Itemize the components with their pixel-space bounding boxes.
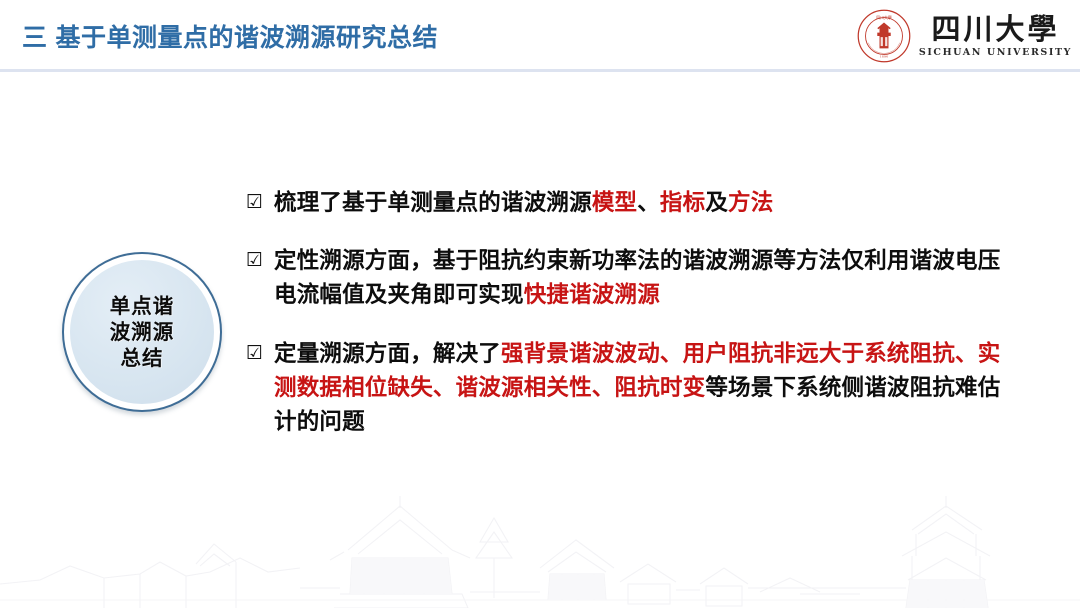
bullet-segment: 、	[637, 190, 660, 216]
sichuan-university-seal-icon: 四川大學 1896	[856, 8, 912, 64]
bullet-segment-highlight: 方法	[728, 190, 773, 216]
bullet-segment: 梳理了基于单测量点的谐波溯源	[274, 190, 592, 216]
university-wordmark: 四川大學 SICHUAN UNIVERSITY	[919, 15, 1072, 58]
bullet-segment-highlight: 快捷谐波溯源	[524, 282, 660, 308]
slide-root: 三基于单测量点的谐波溯源研究总结 四川大學 1896 四川大學 SICHUAN …	[0, 0, 1080, 608]
badge-label: 单点谐 波溯源 总结	[110, 293, 175, 372]
slide-header: 三基于单测量点的谐波溯源研究总结 四川大學 1896 四川大學 SICHUAN …	[0, 0, 1080, 71]
badge-line-2: 波溯源	[110, 319, 175, 345]
page-title: 三基于单测量点的谐波溯源研究总结	[22, 18, 438, 54]
university-name-cn: 四川大學	[931, 15, 1059, 44]
svg-text:1896: 1896	[880, 54, 889, 58]
bullet-text: 定量溯源方面，解决了强背景谐波波动、用户阻抗非远大于系统阻抗、实测数据相位缺失、…	[246, 337, 1006, 440]
bullet-segment-highlight: 模型	[592, 190, 637, 216]
badge-fill: 单点谐 波溯源 总结	[70, 260, 214, 404]
bullet-item: ☑ 定量溯源方面，解决了强背景谐波波动、用户阻抗非远大于系统阻抗、实测数据相位缺…	[246, 337, 1006, 440]
bullet-list: ☑ 梳理了基于单测量点的谐波溯源模型、指标及方法 ☑ 定性溯源方面，基于阻抗约束…	[246, 186, 1006, 439]
header-divider	[0, 69, 1080, 72]
badge-line-3: 总结	[110, 345, 175, 371]
checkbox-checked-icon: ☑	[246, 188, 263, 217]
bullet-segment: 及	[705, 190, 728, 216]
section-title: 基于单测量点的谐波溯源研究总结	[56, 23, 439, 52]
university-logo: 四川大學 1896 四川大學 SICHUAN UNIVERSITY	[856, 6, 1072, 66]
badge-line-1: 单点谐	[110, 293, 175, 319]
bullet-text: 梳理了基于单测量点的谐波溯源模型、指标及方法	[246, 186, 1006, 220]
bullet-segment: 定量溯源方面，解决了	[274, 341, 501, 367]
topic-badge: 单点谐 波溯源 总结	[62, 252, 222, 412]
svg-text:四川大學: 四川大學	[876, 15, 892, 20]
university-name-en: SICHUAN UNIVERSITY	[919, 48, 1072, 58]
chinese-pavilion-skyline-watermark-icon	[0, 488, 1080, 608]
section-number: 三	[22, 23, 48, 52]
bullet-item: ☑ 梳理了基于单测量点的谐波溯源模型、指标及方法	[246, 186, 1006, 220]
checkbox-checked-icon: ☑	[246, 339, 263, 368]
bullet-segment-highlight: 指标	[660, 190, 705, 216]
bullet-item: ☑ 定性溯源方面，基于阻抗约束新功率法的谐波溯源等方法仅利用谐波电压电流幅值及夹…	[246, 244, 1006, 312]
checkbox-checked-icon: ☑	[246, 246, 263, 275]
bullet-text: 定性溯源方面，基于阻抗约束新功率法的谐波溯源等方法仅利用谐波电压电流幅值及夹角即…	[246, 244, 1006, 312]
